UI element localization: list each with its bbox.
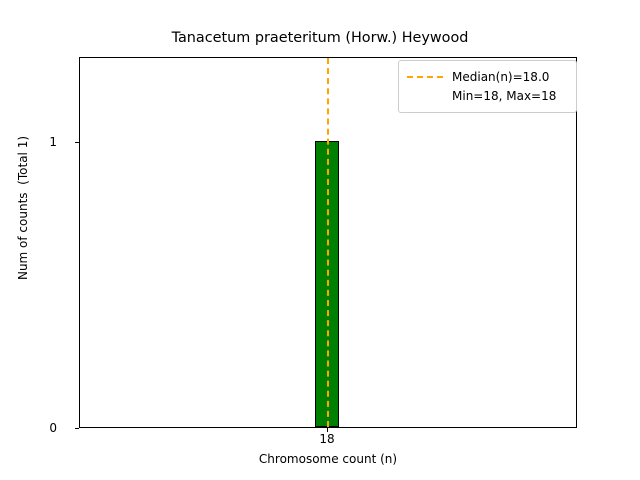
median-line (327, 58, 329, 427)
chart-figure: Tanacetum praeteritum (Horw.) Heywood Nu… (0, 0, 640, 480)
y-tick-label-1: 1 (17, 136, 57, 148)
y-tick-label-0: 0 (17, 422, 57, 434)
x-axis-label: Chromosome count (n) (79, 452, 577, 466)
chart-legend: Median(n)=18.0 Min=18, Max=18 (398, 60, 577, 113)
legend-label-median: Median(n)=18.0 (452, 70, 549, 84)
legend-entry-minmax: Min=18, Max=18 (407, 86, 568, 105)
x-tick-label-18: 18 (297, 433, 357, 445)
y-tick-mark-0 (75, 428, 79, 429)
dashed-line-icon (407, 76, 443, 78)
legend-entry-median: Median(n)=18.0 (407, 67, 568, 86)
y-axis-label: Num of counts (Total 1) (16, 3, 30, 413)
chart-title: Tanacetum praeteritum (Horw.) Heywood (0, 30, 640, 46)
legend-label-minmax: Min=18, Max=18 (452, 89, 556, 103)
